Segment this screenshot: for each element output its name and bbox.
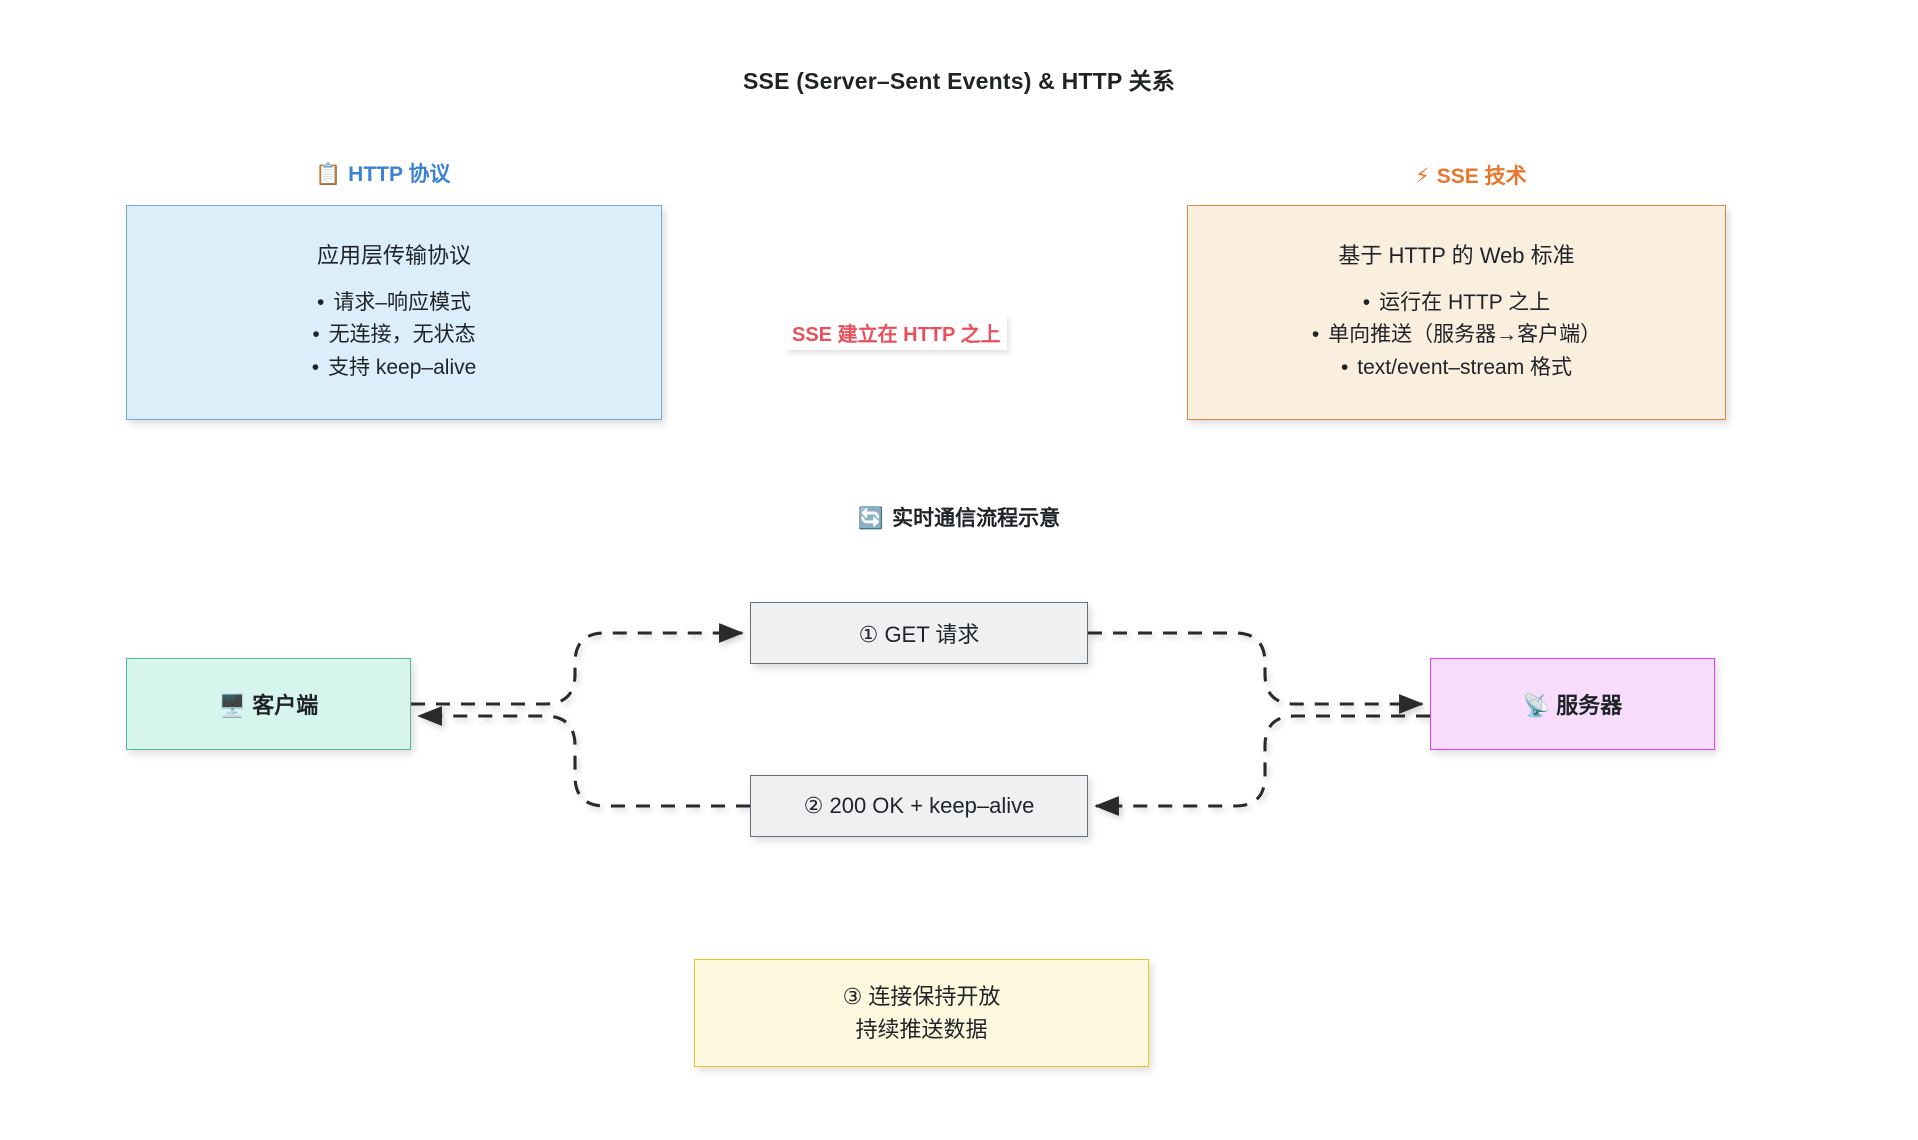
sse-box-bullets: 运行在 HTTP 之上 单向推送（服务器→客户端） text/event–str…: [1312, 287, 1601, 385]
list-item: 无连接，无状态: [312, 319, 477, 352]
http-protocol-box: 应用层传输协议 请求–响应模式 无连接，无状态 支持 keep–alive: [126, 205, 662, 420]
group-label-http: 📋HTTP 协议: [315, 158, 450, 188]
http-box-title: 应用层传输协议: [317, 241, 471, 271]
list-item: 运行在 HTTP 之上: [1312, 287, 1601, 320]
client-node: 🖥️客户端: [126, 658, 411, 750]
flow-section-heading-text: 实时通信流程示意: [892, 507, 1060, 530]
desktop-computer-icon: 🖥️: [219, 693, 246, 718]
refresh-sync-icon: 🔄: [858, 507, 884, 530]
flow-step-1-label: ① GET 请求: [859, 617, 980, 649]
flow-step-3-line-2: 持续推送数据: [855, 1013, 987, 1046]
flow-step-3-line-1: ③ 连接保持开放: [843, 980, 1001, 1013]
edge-step1-to-server: [1088, 633, 1422, 704]
list-item: 单向推送（服务器→客户端）: [1312, 319, 1601, 352]
list-item: text/event–stream 格式: [1312, 352, 1601, 385]
group-label-sse: ⚡SSE 技术: [1415, 160, 1527, 190]
clipboard-icon: 📋: [315, 163, 341, 186]
group-label-sse-text: SSE 技术: [1437, 165, 1527, 188]
diagram-canvas: SSE (Server–Sent Events) & HTTP 关系 📋HTTP…: [0, 0, 1918, 1140]
flow-step-2-node: ② 200 OK + keep–alive: [750, 775, 1088, 837]
http-box-bullets: 请求–响应模式 无连接，无状态 支持 keep–alive: [312, 287, 477, 385]
edge-step2-to-client: [419, 716, 750, 806]
server-node: 📡服务器: [1430, 658, 1715, 750]
flow-step-2-label: ② 200 OK + keep–alive: [804, 793, 1035, 819]
edge-server-to-step2: [1096, 716, 1430, 806]
client-node-content: 🖥️客户端: [219, 688, 318, 720]
satellite-antenna-icon: 📡: [1523, 693, 1550, 718]
lightning-bolt-icon: ⚡: [1415, 165, 1430, 188]
page-title: SSE (Server–Sent Events) & HTTP 关系: [0, 62, 1918, 96]
list-item: 请求–响应模式: [312, 287, 477, 320]
client-node-label: 客户端: [252, 693, 318, 718]
flow-step-1-node: ① GET 请求: [750, 602, 1088, 664]
flow-section-heading: 🔄实时通信流程示意: [0, 502, 1918, 532]
sse-technology-box: 基于 HTTP 的 Web 标准 运行在 HTTP 之上 单向推送（服务器→客户…: [1187, 205, 1726, 420]
server-node-label: 服务器: [1556, 693, 1622, 718]
server-node-content: 📡服务器: [1523, 688, 1622, 720]
sse-box-title: 基于 HTTP 的 Web 标准: [1338, 241, 1574, 271]
edge-label-sse-on-http: SSE 建立在 HTTP 之上: [786, 315, 1007, 350]
list-item: 支持 keep–alive: [312, 352, 477, 385]
group-label-http-text: HTTP 协议: [348, 163, 450, 186]
edge-client-to-step1: [411, 633, 742, 704]
flow-step-3-node: ③ 连接保持开放 持续推送数据: [694, 959, 1149, 1067]
